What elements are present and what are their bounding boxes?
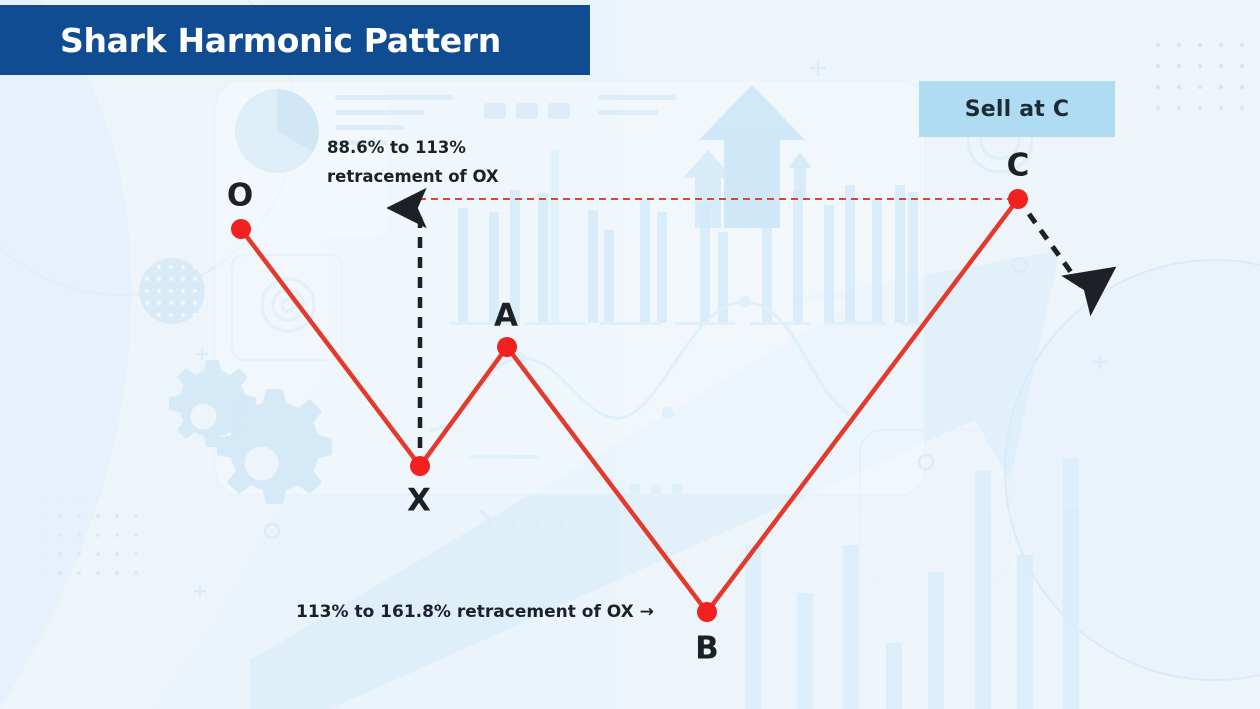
shark-pattern-path [241,199,1018,612]
title-banner: Shark Harmonic Pattern [0,5,590,75]
point-label-A: A [494,301,518,332]
point-B [697,602,717,622]
point-label-C: C [1007,151,1030,182]
point-label-B: B [695,634,719,665]
ox-retracement-annotation: 88.6% to 113% retracement of OX [327,133,499,191]
ob-retracement-annotation: 113% to 161.8% retracement of OX → [296,599,654,625]
point-C [1008,189,1028,209]
sell-at-c-badge: Sell at C [919,81,1115,137]
page-title: Shark Harmonic Pattern [0,21,501,60]
point-A [497,337,517,357]
ox-retracement-line2: retracement of OX [327,162,499,191]
point-label-X: X [407,486,431,517]
sell-projection-dashed-arrow [1029,214,1081,286]
point-O [231,219,251,239]
infographic-canvas: Shark Harmonic Pattern Sell at C 88.6% t… [0,0,1260,709]
sell-at-c-label: Sell at C [965,97,1069,122]
point-label-O: O [227,181,253,212]
point-X [410,456,430,476]
ox-retracement-line1: 88.6% to 113% [327,133,499,162]
